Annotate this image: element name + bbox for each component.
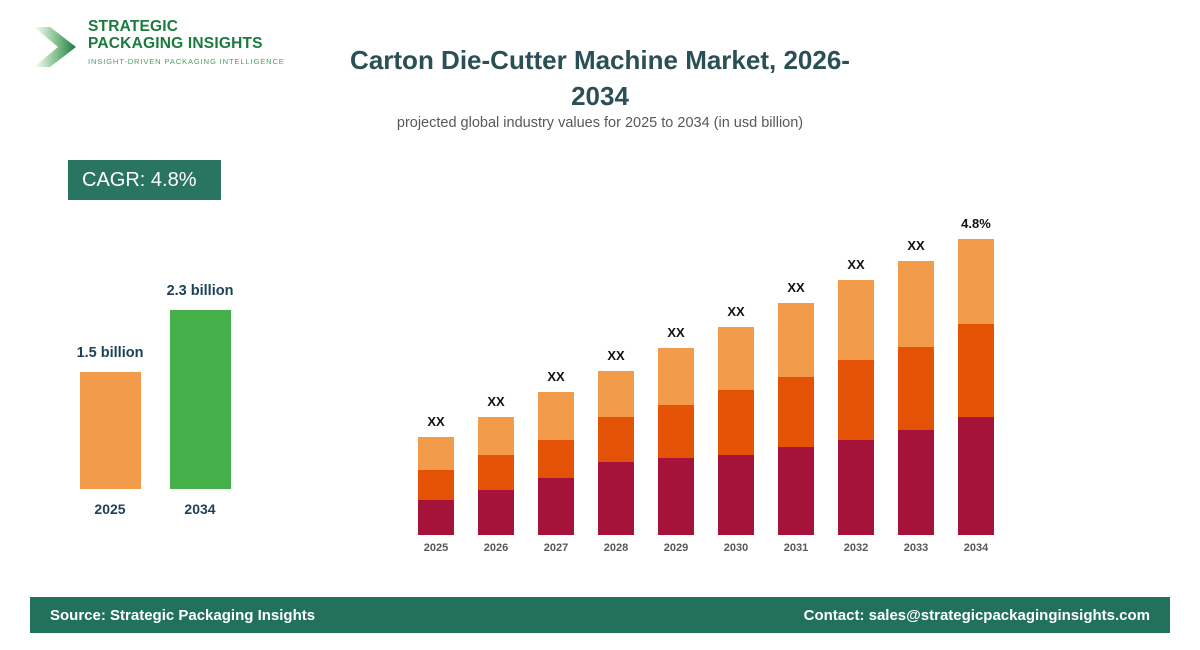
stacked-bar: XX2032: [838, 280, 874, 535]
stacked-bar: XX2025: [418, 437, 454, 535]
stacked-bar-value-label: XX: [756, 280, 836, 295]
stacked-bar-segment: [958, 239, 994, 324]
stacked-bar: XX2029: [658, 348, 694, 535]
stacked-forecast-chart: XX2025XX2026XX2027XX2028XX2029XX2030XX20…: [390, 0, 1180, 600]
stacked-bar-value-label: XX: [876, 238, 956, 253]
stacked-bar-segment: [898, 347, 934, 430]
stacked-bar-segment: [778, 303, 814, 377]
stacked-bar-segment: [538, 440, 574, 478]
market-size-comparison-chart: 1.5 billion20252.3 billion2034: [0, 0, 330, 600]
stacked-bar-segment: [658, 458, 694, 535]
stacked-bar: XX2030: [718, 327, 754, 535]
stacked-bar-value-label: XX: [576, 348, 656, 363]
stacked-bar-value-label: XX: [696, 304, 776, 319]
stacked-bar-segment: [838, 440, 874, 535]
stacked-bar-segment: [598, 417, 634, 462]
stacked-bar-value-label: 4.8%: [936, 216, 1016, 231]
stacked-bar-segment: [538, 392, 574, 440]
stacked-bar-year: 2034: [936, 542, 1016, 554]
stacked-bar-value-label: XX: [456, 394, 536, 409]
stacked-bar: 4.8%2034: [958, 239, 994, 535]
comparison-bar-rect: [80, 372, 141, 489]
stacked-bar: XX2028: [598, 371, 634, 535]
stacked-bar-segment: [838, 360, 874, 440]
stacked-bar: XX2027: [538, 392, 574, 535]
footer-contact: Contact: sales@strategicpackaginginsight…: [804, 607, 1150, 624]
stacked-bar-segment: [478, 455, 514, 490]
stacked-bar-segment: [958, 417, 994, 535]
stacked-bar-value-label: XX: [396, 414, 476, 429]
stacked-bar-segment: [478, 417, 514, 455]
stacked-bar-segment: [598, 462, 634, 535]
stacked-bar-segment: [418, 500, 454, 535]
stacked-bar-segment: [958, 324, 994, 417]
comparison-bar-rect: [170, 310, 231, 489]
comparison-bar-value: 1.5 billion: [30, 345, 190, 361]
stacked-bar-segment: [898, 430, 934, 535]
comparison-bar-year: 2034: [140, 501, 260, 517]
stacked-bar-segment: [598, 371, 634, 417]
stacked-bar: XX2026: [478, 417, 514, 535]
stacked-bar-segment: [778, 377, 814, 447]
stacked-bar-segment: [838, 280, 874, 360]
comparison-bar-value: 2.3 billion: [120, 283, 280, 299]
footer-bar: Source: Strategic Packaging Insights Con…: [30, 597, 1170, 633]
stacked-bar-segment: [418, 470, 454, 500]
stacked-bar: XX2031: [778, 303, 814, 535]
stacked-bar-segment: [658, 405, 694, 458]
stacked-bar-segment: [718, 327, 754, 390]
stacked-bar-segment: [718, 455, 754, 535]
comparison-bar: 1.5 billion2025: [80, 372, 141, 489]
stacked-bar-segment: [778, 447, 814, 535]
stacked-bar-value-label: XX: [636, 325, 716, 340]
stacked-bar-value-label: XX: [816, 257, 896, 272]
stacked-bar-segment: [538, 478, 574, 535]
stacked-bar-segment: [418, 437, 454, 470]
stacked-bar-segment: [898, 261, 934, 347]
comparison-bar: 2.3 billion2034: [170, 310, 231, 489]
stacked-bar-segment: [478, 490, 514, 535]
stacked-bar: XX2033: [898, 261, 934, 535]
stacked-bar-segment: [718, 390, 754, 455]
stacked-bar-value-label: XX: [516, 369, 596, 384]
stacked-bar-segment: [658, 348, 694, 405]
footer-source: Source: Strategic Packaging Insights: [50, 607, 315, 624]
